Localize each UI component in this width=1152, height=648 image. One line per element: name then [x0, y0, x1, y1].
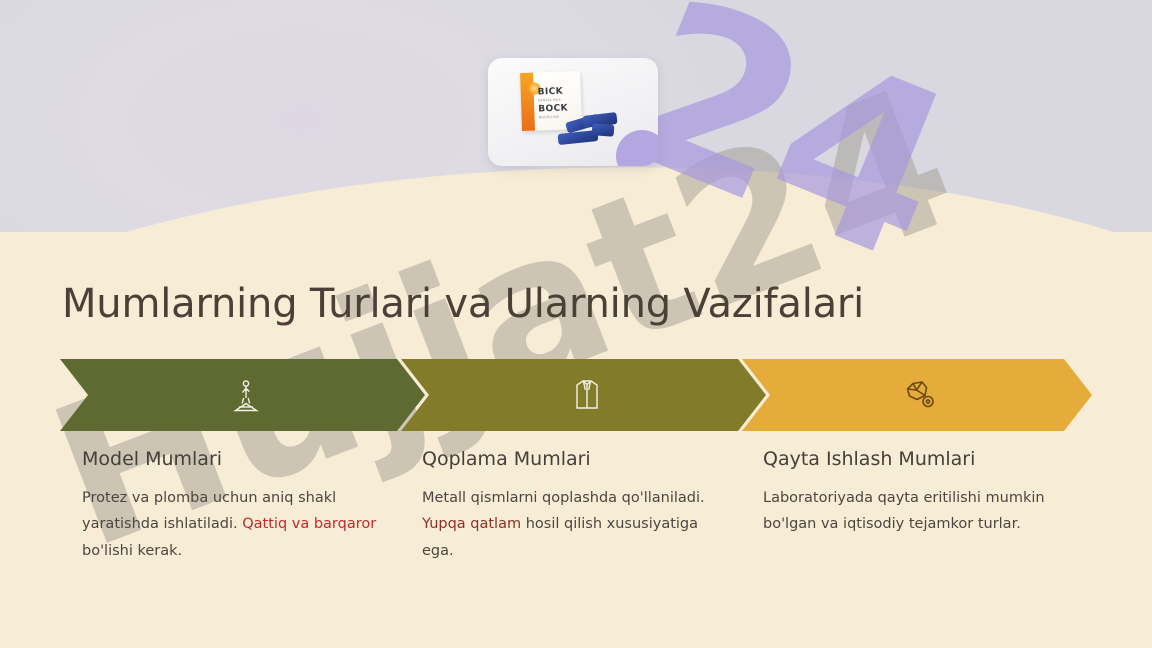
column-body: Metall qismlarni qoplashda qo'llaniladi.…: [422, 485, 722, 564]
column-title: Qoplama Mumlari: [422, 448, 722, 470]
page-title: Mumlarning Turlari va Ularning Vazifalar…: [62, 281, 864, 327]
chevron-step-2[interactable]: [401, 359, 766, 431]
statue-modelling-icon: [232, 378, 260, 412]
chevron-step-1[interactable]: [60, 359, 425, 431]
column-qayta-ishlash-mumlari: Qayta Ishlash Mumlari Laboratoriyada qay…: [763, 448, 1063, 538]
columns-container: Model Mumlari Protez va plomba uchun ani…: [60, 448, 1120, 608]
column-body: Protez va plomba uchun aniq shakl yarati…: [82, 485, 382, 564]
column-model-mumlari: Model Mumlari Protez va plomba uchun ani…: [82, 448, 382, 564]
recycle-rock-icon: [904, 380, 936, 410]
column-title: Qayta Ishlash Mumlari: [763, 448, 1063, 470]
slide-root: 24 Hujjat24 BICK DENTAL WAX BOCK MODELLI…: [0, 0, 1152, 648]
column-text-after: bo'lishi kerak.: [82, 543, 182, 559]
column-body: Laboratoriyada qayta eritilishi mumkin b…: [763, 485, 1063, 538]
chevron-band: [60, 359, 1092, 431]
column-qoplama-mumlari: Qoplama Mumlari Metall qismlarni qoplash…: [422, 448, 722, 564]
column-text-before: Metall qismlarni qoplashda qo'llaniladi.: [422, 490, 705, 506]
coat-coating-icon: [573, 378, 601, 412]
chevron-step-3[interactable]: [742, 359, 1092, 431]
column-highlight: Qattiq va barqaror: [242, 516, 376, 532]
slide-content: Mumlarning Turlari va Ularning Vazifalar…: [0, 0, 1152, 648]
column-text-before: Laboratoriyada qayta eritilishi mumkin b…: [763, 490, 1045, 532]
column-highlight: Yupqa qatlam: [422, 516, 521, 532]
column-title: Model Mumlari: [82, 448, 382, 470]
